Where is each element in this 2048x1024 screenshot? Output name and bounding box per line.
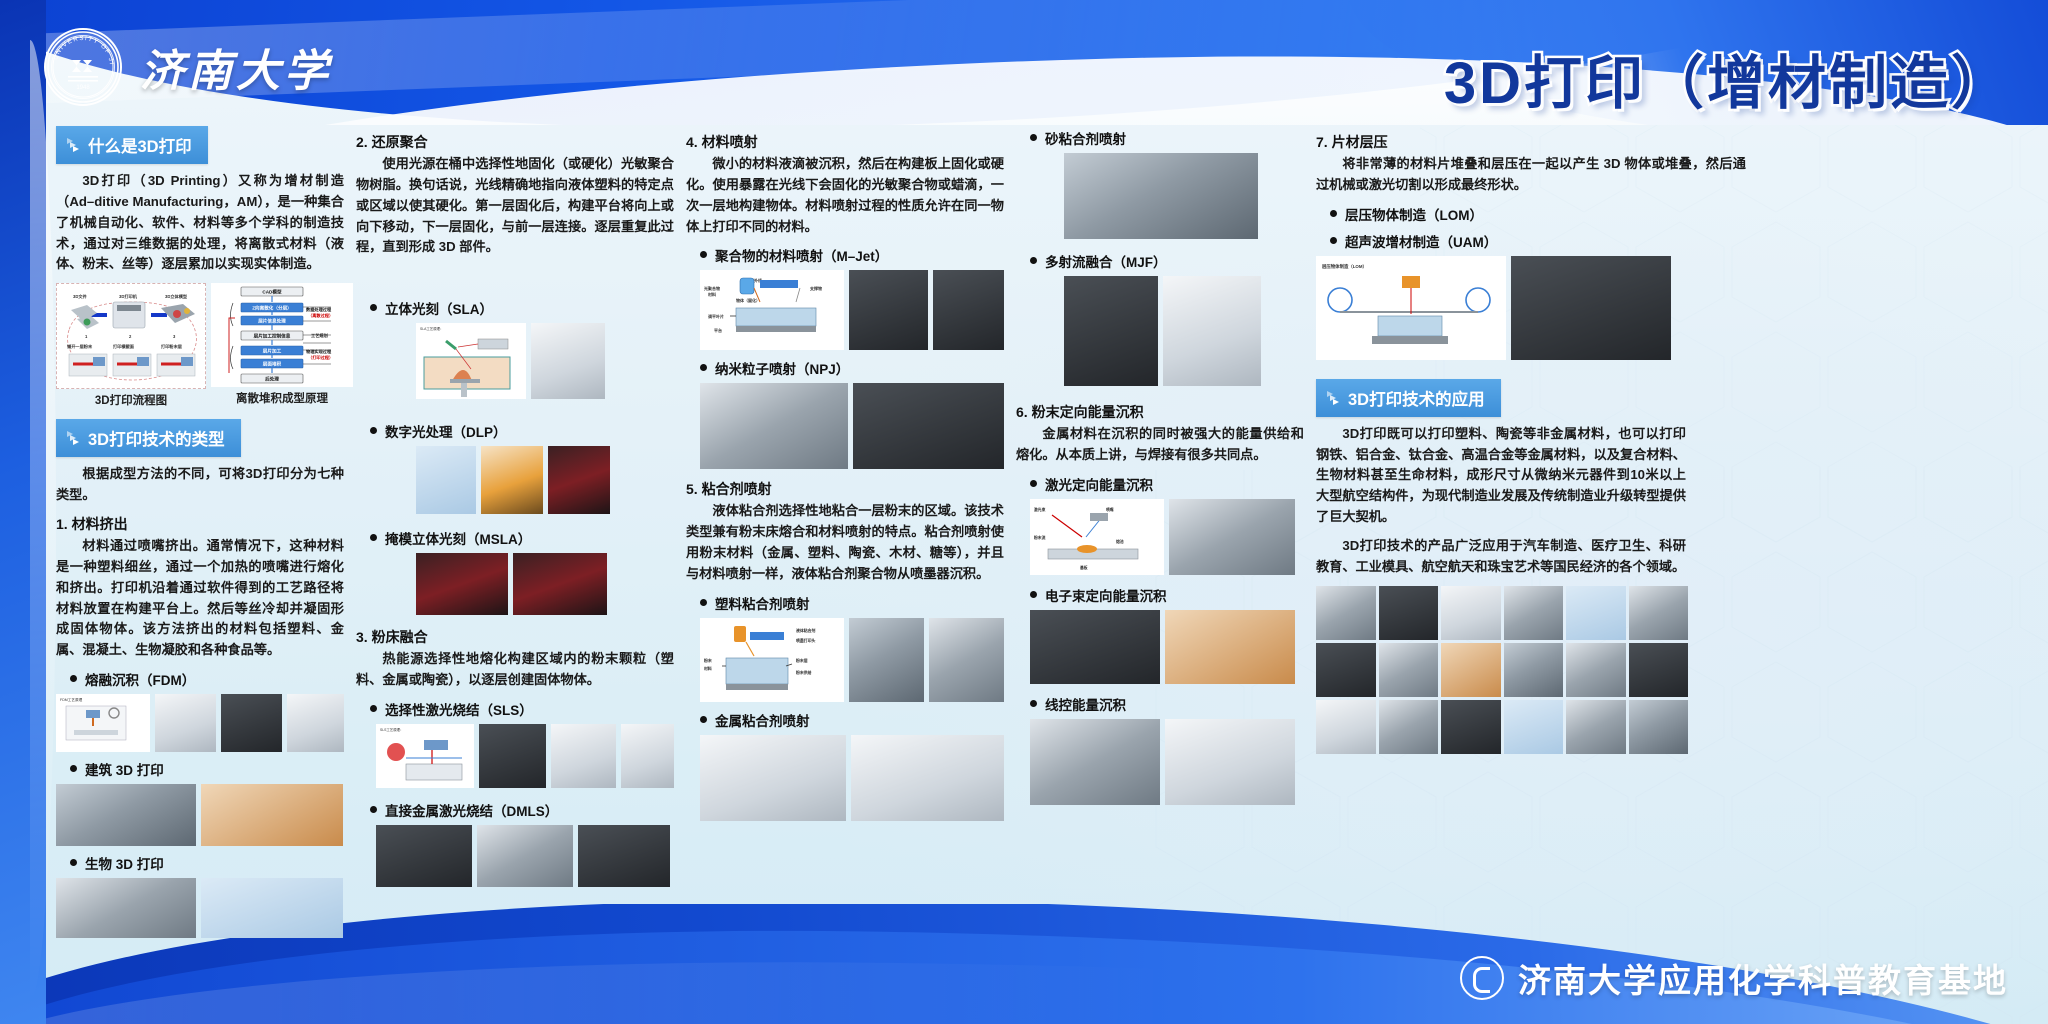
- type5-title: 粘合剂喷射: [702, 481, 772, 497]
- photo-wire-ded-2: [1165, 719, 1295, 805]
- photo-sls-machine-1: [479, 724, 546, 788]
- poster-root: 1948 UNIVERSITY OF JINAN 济南大学 3D打印（增材制造）…: [0, 0, 2048, 1024]
- svg-text:铺开一层粉末: 铺开一层粉末: [67, 343, 93, 350]
- mosaic-image: [1316, 700, 1376, 754]
- photo-dmls-2: [477, 825, 573, 887]
- what-is-figures: 3D文件3D打印机3D立体模型 123 铺开一层粉末打印横截面打印粉末层: [56, 283, 344, 408]
- figure-binder-jetting-diagram: 液体粘合剂喷墨打印头 粉末材料 粉末层粉末供给: [700, 618, 844, 702]
- svg-text:SLS工艺原理：: SLS工艺原理：: [380, 727, 403, 732]
- photo-dmls-3: [578, 825, 670, 887]
- type7-heading: 7. 片材层压: [1316, 132, 1844, 152]
- photo-binder-jetting-lab: [849, 618, 924, 702]
- type2-body: 使用光源在桶中选择性地固化（或硬化）光敏聚合物树脂。换句话说，光线精确地指向液体…: [356, 154, 674, 258]
- bullet-label: 熔融沉积（FDM）: [85, 669, 195, 689]
- bullet-dot-icon: [1030, 257, 1037, 264]
- svg-text:熔池: 熔池: [1116, 539, 1124, 544]
- photo-bioprinting-1: [56, 878, 196, 938]
- photo-sls-machine-3: [621, 724, 674, 788]
- bullet-label: 激光定向能量沉积: [1045, 474, 1153, 494]
- bullet-wire-ded: 线控能量沉积: [1030, 694, 1304, 714]
- type3-figures-sls: SLS工艺原理：: [376, 724, 674, 788]
- bullet-construction-3dp: 建筑 3D 打印: [70, 759, 344, 779]
- photo-dlp-printer-1: [416, 446, 476, 514]
- bullet-msla: 掩模立体光刻（MSLA）: [370, 528, 674, 548]
- photo-laser-ded-part: [1169, 499, 1295, 575]
- triangle-arrow-icon: [67, 431, 79, 445]
- applications-body-1: 3D打印既可以打印塑料、陶瓷等非金属材料，也可以打印钢铁、铝合金、钛合金、高温合…: [1316, 424, 1686, 528]
- mosaic-image: [1441, 586, 1501, 640]
- bullet-label: 纳米粒子喷射（NPJ）: [715, 358, 849, 378]
- university-seal-icon: 1948 UNIVERSITY OF JINAN: [44, 28, 122, 106]
- bullet-plastic-binder-jetting: 塑料粘合剂喷射: [700, 593, 1004, 613]
- type5-body: 液体粘合剂选择性地粘合一层粉末的区域。该技术类型兼有粉末床熔合和材料喷射的特点。…: [686, 501, 1004, 584]
- photo-construction-printing-2: [201, 784, 343, 846]
- mosaic-image: [1629, 643, 1689, 697]
- section-header-applications: 3D打印技术的应用: [1316, 379, 1501, 417]
- photo-construction-printing-1: [56, 784, 196, 846]
- bullet-label: 塑料粘合剂喷射: [715, 593, 810, 613]
- svg-text:打印粉末层: 打印粉末层: [161, 343, 183, 350]
- page-title: 3D打印（增材制造）: [1444, 36, 2012, 120]
- svg-text:CAD模型: CAD模型: [262, 289, 282, 296]
- photo-dlp-printer-3: [548, 446, 610, 514]
- type1-number: 1.: [56, 516, 68, 532]
- mosaic-image: [1629, 586, 1689, 640]
- type5-heading: 5. 粘合剂喷射: [686, 479, 1004, 499]
- photo-npj-machine: [853, 383, 1004, 469]
- svg-text:3D文件: 3D文件: [73, 293, 88, 300]
- bullet-label: 砂粘合剂喷射: [1045, 128, 1126, 148]
- photo-mjet-machine-2: [933, 270, 1004, 350]
- photo-ebeam-1: [1030, 610, 1160, 684]
- mosaic-image: [1504, 586, 1564, 640]
- university-name-cn: 济南大学: [140, 35, 332, 99]
- type6-title: 粉末定向能量沉积: [1032, 404, 1144, 420]
- mosaic-image: [1504, 643, 1564, 697]
- column-5: 7. 片材层压 将非常薄的材料片堆叠和层压在一起以产生 3D 物体或堆叠，然后通…: [1316, 126, 1856, 838]
- triangle-arrow-icon: [1327, 391, 1339, 405]
- figure-sla-diagram: SLA工艺原理：: [416, 323, 526, 399]
- type4-figures-mjet: 光聚合物材料 紫外线物体（固化） 调平叶片平台 支撑物: [700, 270, 1004, 350]
- column-2: 2. 还原聚合 使用光源在桶中选择性地固化（或硬化）光敏聚合物树脂。换句话说，光…: [356, 126, 686, 838]
- bullet-dot-icon: [70, 765, 77, 772]
- type7-number: 7.: [1316, 134, 1328, 150]
- mosaic-image: [1566, 586, 1626, 640]
- bullet-dot-icon: [1330, 237, 1337, 244]
- svg-text:（离散过程）: （离散过程）: [308, 312, 333, 319]
- type6-heading: 6. 粉末定向能量沉积: [1016, 402, 1304, 422]
- bullet-mjet: 聚合物的材料喷射（M–Jet）: [700, 245, 1004, 265]
- mosaic-image: [1379, 586, 1439, 640]
- figures-sand-binder: [1064, 153, 1304, 239]
- bullet-lom: 层压物体制造（LOM）: [1330, 204, 1844, 224]
- figure-3d-print-flow: 3D文件3D打印机3D立体模型 123 铺开一层粉末打印横截面打印粉末层: [56, 283, 206, 389]
- bullet-label: 电子束定向能量沉积: [1045, 585, 1167, 605]
- photo-metal-binder-machine-1: [700, 735, 846, 821]
- photo-sls-machine-2: [551, 724, 616, 788]
- photo-wire-ded-1: [1030, 719, 1160, 805]
- svg-text:光聚合物: 光聚合物: [703, 285, 720, 291]
- bullet-dot-icon: [1030, 134, 1037, 141]
- bullet-dot-icon: [70, 675, 77, 682]
- mosaic-image: [1566, 643, 1626, 697]
- svg-text:层面堆积: 层面堆积: [263, 361, 282, 368]
- bullet-mjf: 多射流融合（MJF）: [1030, 251, 1304, 271]
- svg-text:层片加工: 层片加工: [263, 348, 282, 355]
- type4-title: 材料喷射: [702, 134, 758, 150]
- footer-brand: 济南大学应用化学科普教育基地: [1460, 954, 2008, 1002]
- type3-title: 粉床融合: [372, 629, 428, 645]
- bullet-dot-icon: [370, 427, 377, 434]
- bullet-sls: 选择性激光烧结（SLS）: [370, 699, 674, 719]
- bullet-dlp: 数字光处理（DLP）: [370, 421, 674, 441]
- photo-mjf-parts: [1064, 276, 1158, 386]
- svg-text:材料: 材料: [703, 666, 712, 671]
- figure-caption-stacking: 离散堆积成型原理: [211, 390, 353, 406]
- photo-metal-binder-machine-2: [851, 735, 1004, 821]
- svg-text:3D打印机: 3D打印机: [119, 293, 138, 300]
- svg-text:（打印过程）: （打印过程）: [308, 354, 333, 361]
- column-4: 砂粘合剂喷射 多射流融合（MJF） 6. 粉末定向能量沉积 金属材料在沉积的同时…: [1016, 126, 1316, 838]
- university-logo: 1948 UNIVERSITY OF JINAN 济南大学: [44, 28, 332, 106]
- photo-mjf-machine: [1163, 276, 1261, 386]
- bullet-bio-3dp: 生物 3D 打印: [70, 853, 344, 873]
- figure-discrete-stacking: CAD模型 Z向离散化（分层） 层片信息处理 层片加工控制信息 层片加工: [211, 283, 353, 387]
- photo-dmls-1: [376, 825, 472, 887]
- svg-text:平台: 平台: [714, 327, 722, 333]
- seal-english-text: UNIVERSITY OF JINAN: [46, 30, 115, 66]
- photo-binder-jetting-parts: [929, 618, 1004, 702]
- figure-mjet-diagram: 光聚合物材料 紫外线物体（固化） 调平叶片平台 支撑物: [700, 270, 844, 350]
- bullet-label: 生物 3D 打印: [85, 853, 164, 873]
- bullet-metal-binder-jetting: 金属粘合剂喷射: [700, 710, 1004, 730]
- bullet-label: 选择性激光烧结（SLS）: [385, 699, 533, 719]
- triangle-arrow-icon: [67, 138, 79, 152]
- bullet-label: 直接金属激光烧结（DMLS）: [385, 800, 558, 820]
- bullet-label: 聚合物的材料喷射（M–Jet）: [715, 245, 888, 265]
- type4-figures-npj: [700, 383, 1004, 469]
- svg-text:物理实现过程: 物理实现过程: [306, 348, 332, 355]
- type3-number: 3.: [356, 629, 368, 645]
- svg-text:粉末流: 粉末流: [1034, 535, 1046, 540]
- types-intro: 根据成型方法的不同，可将3D打印分为七种类型。: [56, 464, 344, 506]
- type2-figures-msla: [416, 553, 674, 615]
- figure-lom-diagram: 层压物体制造（LOM）: [1316, 256, 1506, 360]
- figure-ded-diagram: 激光束喷嘴 粉末流熔池基板: [1030, 499, 1164, 575]
- svg-text:Z向离散化（分层）: Z向离散化（分层）: [252, 305, 292, 312]
- bullet-dot-icon: [700, 251, 707, 258]
- bullet-label: 建筑 3D 打印: [85, 759, 164, 779]
- bullet-dmls: 直接金属激光烧结（DMLS）: [370, 800, 674, 820]
- svg-text:FDM工艺原理: FDM工艺原理: [60, 697, 83, 702]
- svg-text:层片加工控制信息: 层片加工控制信息: [254, 333, 291, 340]
- bullet-label: 超声波增材制造（UAM）: [1345, 231, 1497, 251]
- applications-image-mosaic: [1316, 586, 1688, 754]
- figures-laser-ded: 激光束喷嘴 粉末流熔池基板: [1030, 499, 1304, 575]
- mosaic-image: [1566, 700, 1626, 754]
- bullet-label: 金属粘合剂喷射: [715, 710, 810, 730]
- section-header-types-label: 3D打印技术的类型: [88, 426, 225, 450]
- figure-sls-diagram: SLS工艺原理：: [376, 724, 474, 788]
- type1-body: 材料通过喷嘴挤出。通常情况下，这种材料是一种塑料细丝，通过一个加热的喷嘴进行熔化…: [56, 536, 344, 661]
- photo-uam-machine: [1511, 256, 1671, 360]
- bullet-npj: 纳米粒子喷射（NPJ）: [700, 358, 1004, 378]
- bullet-label: 立体光刻（SLA）: [385, 298, 493, 318]
- photo-sand-binder-engineers: [1064, 153, 1258, 239]
- type4-heading: 4. 材料喷射: [686, 132, 1004, 152]
- photo-bioprinting-2: [201, 878, 343, 938]
- mosaic-image: [1316, 586, 1376, 640]
- bullet-dot-icon: [70, 859, 77, 866]
- bullet-dot-icon: [370, 534, 377, 541]
- mosaic-image: [1441, 700, 1501, 754]
- svg-text:层压物体制造（LOM）: 层压物体制造（LOM）: [1322, 263, 1367, 270]
- photo-msla-printer-1: [416, 553, 508, 615]
- mosaic-image: [1379, 700, 1439, 754]
- footer-brand-text: 济南大学应用化学科普教育基地: [1518, 954, 2008, 1002]
- bullet-dot-icon: [1030, 480, 1037, 487]
- figure-caption-flow: 3D打印流程图: [56, 392, 206, 408]
- mosaic-image: [1379, 643, 1439, 697]
- section-header-what-is: 什么是3D打印: [56, 126, 208, 164]
- svg-text:物体（固化）: 物体（固化）: [736, 297, 760, 303]
- bullet-dot-icon: [700, 599, 707, 606]
- type1-figures-row1: FDM工艺原理: [56, 694, 344, 752]
- bullet-dot-icon: [370, 705, 377, 712]
- type1-figures-row2: [56, 784, 344, 846]
- mosaic-image: [1504, 700, 1564, 754]
- svg-text:调平叶片: 调平叶片: [708, 313, 724, 319]
- svg-text:基板: 基板: [1079, 565, 1088, 570]
- svg-text:工艺规划: 工艺规划: [311, 332, 328, 339]
- type3-figures-dmls: [376, 825, 674, 887]
- type3-heading: 3. 粉床融合: [356, 627, 674, 647]
- bullet-dot-icon: [1030, 700, 1037, 707]
- type5-figures-metal: [700, 735, 1004, 821]
- bullet-laser-ded: 激光定向能量沉积: [1030, 474, 1304, 494]
- svg-text:液体粘合剂: 液体粘合剂: [796, 628, 816, 633]
- seal-year: 1948: [76, 85, 90, 91]
- bullet-dot-icon: [370, 304, 377, 311]
- bullet-fdm: 熔融沉积（FDM）: [70, 669, 344, 689]
- svg-text:打印横截面: 打印横截面: [113, 343, 135, 350]
- svg-text:粉末供给: 粉末供给: [796, 670, 812, 675]
- bullet-ebeam-ded: 电子束定向能量沉积: [1030, 585, 1304, 605]
- photo-dlp-printer-2: [481, 446, 543, 514]
- svg-text:材料: 材料: [707, 291, 716, 297]
- type1-figures-row3: [56, 878, 344, 938]
- type6-body: 金属材料在沉积的同时被强大的能量供给和熔化。从本质上讲，与焊接有很多共同点。: [1016, 424, 1304, 466]
- type3-body: 热能源选择性地熔化构建区域内的粉末颗粒（塑料、金属或陶瓷），以逐层创建固体物体。: [356, 649, 674, 691]
- column-3: 4. 材料喷射 微小的材料液滴被沉积，然后在构建板上固化或硬化。使用暴露在光线下…: [686, 126, 1016, 838]
- svg-text:喷嘴: 喷嘴: [1106, 507, 1114, 512]
- type5-figures-plastic: 液体粘合剂喷墨打印头 粉末材料 粉末层粉末供给: [700, 618, 1004, 702]
- type2-figures-dlp: [416, 446, 674, 514]
- type2-number: 2.: [356, 134, 368, 150]
- type4-body: 微小的材料液滴被沉积，然后在构建板上固化或硬化。使用暴露在光线下会固化的光敏聚合…: [686, 154, 1004, 237]
- photo-ebeam-2: [1165, 610, 1295, 684]
- mosaic-image: [1316, 643, 1376, 697]
- bullet-dot-icon: [1330, 210, 1337, 217]
- type2-heading: 2. 还原聚合: [356, 132, 674, 152]
- section-header-what-is-label: 什么是3D打印: [88, 133, 192, 157]
- svg-text:粉末: 粉末: [704, 658, 712, 663]
- photo-mjet-machine-1: [849, 270, 928, 350]
- section-header-types: 3D打印技术的类型: [56, 419, 241, 457]
- bullet-label: 掩模立体光刻（MSLA）: [385, 528, 531, 548]
- applications-body-2: 3D打印技术的产品广泛应用于汽车制造、医疗卫生、科研教育、工业模具、航空航天和珠…: [1316, 536, 1686, 578]
- photo-npj-impeller: [700, 383, 848, 469]
- photo-fdm-printer-3: [287, 694, 344, 752]
- bullet-sand-binder-jetting: 砂粘合剂喷射: [1030, 128, 1304, 148]
- type1-heading: 1. 材料挤出: [56, 514, 344, 534]
- figures-ebeam-ded: [1030, 610, 1304, 684]
- mosaic-image: [1441, 643, 1501, 697]
- section-header-applications-label: 3D打印技术的应用: [1348, 386, 1485, 410]
- type2-figures-sla: SLA工艺原理：: [416, 323, 674, 399]
- type2-title: 还原聚合: [372, 134, 428, 150]
- type7-title: 片材层压: [1332, 134, 1388, 150]
- svg-text:层片信息处理: 层片信息处理: [258, 318, 286, 325]
- photo-msla-printer-2: [513, 553, 607, 615]
- poster-content: 什么是3D打印 3D打印（3D Printing）又称为增材制造（Ad–diti…: [56, 126, 2024, 838]
- svg-text:粉末层: 粉末层: [796, 658, 808, 663]
- bullet-dot-icon: [1030, 591, 1037, 598]
- bullet-dot-icon: [370, 806, 377, 813]
- what-is-body: 3D打印（3D Printing）又称为增材制造（Ad–ditive Manuf…: [56, 171, 344, 275]
- type1-title: 材料挤出: [72, 516, 128, 532]
- bullet-label: 数字光处理（DLP）: [385, 421, 507, 441]
- svg-text:SLA工艺原理：: SLA工艺原理：: [420, 326, 443, 331]
- bullet-label: 层压物体制造（LOM）: [1345, 204, 1483, 224]
- bullet-uam: 超声波增材制造（UAM）: [1330, 231, 1844, 251]
- type4-number: 4.: [686, 134, 698, 150]
- column-1: 什么是3D打印 3D打印（3D Printing）又称为增材制造（Ad–diti…: [56, 126, 356, 838]
- figures-mjf: [1064, 276, 1304, 386]
- svg-text:激光束: 激光束: [1034, 507, 1046, 512]
- figures-wire-ded: [1030, 719, 1304, 805]
- jinan-university-mark-icon: [1460, 956, 1504, 1000]
- photo-fdm-printer-2: [221, 694, 282, 752]
- bullet-dot-icon: [700, 364, 707, 371]
- photo-fdm-printer-1: [155, 694, 216, 752]
- bullet-sla: 立体光刻（SLA）: [370, 298, 674, 318]
- figure-fdm-diagram: FDM工艺原理: [56, 694, 150, 752]
- svg-text:支撑物: 支撑物: [809, 285, 822, 291]
- mosaic-image: [1629, 700, 1689, 754]
- bullet-label: 线控能量沉积: [1045, 694, 1126, 714]
- svg-text:喷墨打印头: 喷墨打印头: [796, 638, 816, 643]
- type7-body: 将非常薄的材料片堆叠和层压在一起以产生 3D 物体或堆叠，然后通过机械或激光切割…: [1316, 154, 1746, 196]
- bullet-dot-icon: [700, 716, 707, 723]
- left-blue-edge: [0, 0, 46, 1024]
- figures-sheet-lamination: 层压物体制造（LOM）: [1316, 256, 1844, 360]
- type6-number: 6.: [1016, 404, 1028, 420]
- photo-sla-printer: [531, 323, 605, 399]
- type5-number: 5.: [686, 481, 698, 497]
- svg-text:后处理: 后处理: [265, 376, 279, 383]
- bullet-label: 多射流融合（MJF）: [1045, 251, 1167, 271]
- svg-text:3D立体模型: 3D立体模型: [165, 293, 188, 300]
